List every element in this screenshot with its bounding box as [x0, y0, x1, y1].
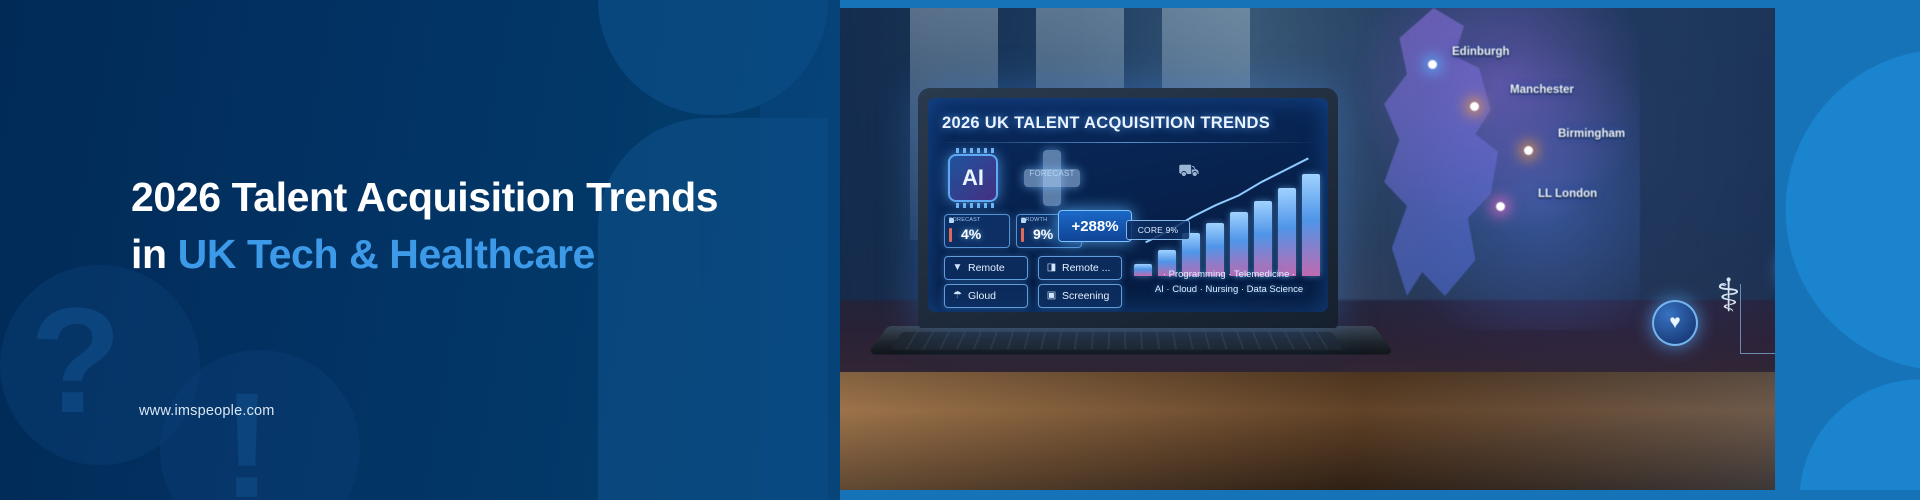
- city-label-birmingham: Birmingham: [1558, 128, 1625, 140]
- trend-line: [1134, 148, 1320, 260]
- medical-cross-icon: FORECAST: [1024, 150, 1080, 206]
- right-edge-curve: [1775, 0, 1920, 500]
- laptop-keyboard: [890, 332, 1343, 350]
- map-node-edinburgh: [1428, 60, 1437, 69]
- stat-bar-indicator: [949, 228, 952, 242]
- screen-title: 2026 UK TALENT ACQUISITION TRENDS: [942, 114, 1314, 133]
- question-mark-glyph: ?: [30, 285, 122, 435]
- filter-pill-label: Remote: [968, 262, 1005, 274]
- skill-tags-line-1: · Programming · Telemedicine ·: [1136, 268, 1322, 283]
- heart-icon: ♥: [1652, 300, 1698, 346]
- filter-pill-label: Remote ...: [1062, 262, 1110, 274]
- headline-prefix: in: [131, 231, 178, 277]
- stat-card-value: 9%: [1033, 226, 1053, 242]
- filter-pill-remote-alt[interactable]: ◨ Remote ...: [1038, 256, 1122, 280]
- stat-card-forecast: FORECAST 4%: [944, 214, 1010, 248]
- chart-tooltip: CORE 9%: [1126, 220, 1190, 240]
- stat-card-label: GROWTH: [1021, 217, 1047, 223]
- chevron-down-icon: ▼: [952, 263, 963, 274]
- filter-pill-remote[interactable]: ▼ Remote: [944, 256, 1028, 280]
- decorative-shape-top: [598, 0, 828, 115]
- promo-banner: ? ! 2026 Talent Acquisition Trends in UK…: [0, 0, 1920, 500]
- city-label-london: LL London: [1538, 188, 1597, 200]
- inbox-icon: ▣: [1046, 291, 1057, 302]
- chart-icon: ◨: [1046, 263, 1057, 274]
- decorative-circle-exclaim: [160, 350, 360, 500]
- growth-bar-chart: ⛟ CORE 9%: [1134, 148, 1320, 276]
- stat-card-label: FORECAST: [949, 217, 981, 223]
- skill-tags-line-2: AI · Cloud · Nursing · Data Science: [1136, 283, 1322, 298]
- cloud-icon: ☂: [952, 291, 963, 302]
- filter-pill-label: Gloud: [968, 290, 996, 302]
- filter-pill-screening[interactable]: ▣ Screening: [1038, 284, 1122, 308]
- decorative-circle-question: [0, 265, 200, 465]
- uk-map: Edinburgh Manchester Birmingham LL Londo…: [1310, 0, 1640, 330]
- map-node-birmingham: [1524, 146, 1533, 155]
- laptop: 2026 UK TALENT ACQUISITION TRENDS AI FOR…: [918, 88, 1338, 328]
- headline-accent: UK Tech & Healthcare: [178, 231, 595, 277]
- map-node-london: [1496, 202, 1505, 211]
- hero-photo-panel: 2026 UK TALENT ACQUISITION TRENDS AI FOR…: [840, 0, 1920, 500]
- photo-frame-bottom: [840, 490, 1920, 500]
- map-node-manchester: [1470, 102, 1479, 111]
- exclamation-mark-glyph: !: [222, 370, 272, 500]
- uk-map-landmass: [1350, 8, 1540, 308]
- cross-label: FORECAST: [1024, 169, 1080, 178]
- city-label-manchester: Manchester: [1510, 84, 1574, 96]
- filter-pill-label: Screening: [1062, 290, 1109, 302]
- stat-bar-indicator: [1021, 228, 1024, 242]
- site-url[interactable]: www.imspeople.com: [139, 403, 275, 419]
- growth-badge: +288%: [1058, 210, 1132, 242]
- photo-frame-top: [840, 0, 1920, 8]
- screen-divider: [936, 142, 1320, 143]
- desk-light-sheen: [840, 372, 1920, 500]
- headline-line-2: in UK Tech & Healthcare: [131, 229, 811, 279]
- stat-card-value: 4%: [961, 226, 981, 242]
- laptop-screen: 2026 UK TALENT ACQUISITION TRENDS AI FOR…: [928, 98, 1328, 312]
- filter-pill-cloud[interactable]: ☂ Gloud: [944, 284, 1028, 308]
- skill-tags: · Programming · Telemedicine · AI · Clou…: [1136, 268, 1322, 297]
- ai-chip-icon: AI: [948, 154, 998, 202]
- stethoscope-icon: ⚕: [1716, 272, 1772, 350]
- city-label-edinburgh: Edinburgh: [1452, 46, 1510, 58]
- left-content-panel: ? ! 2026 Talent Acquisition Trends in UK…: [0, 0, 840, 500]
- page-title: 2026 Talent Acquisition Trends in UK Tec…: [131, 172, 811, 279]
- vehicle-icon: ⛟: [1178, 162, 1212, 182]
- headline-line-1: 2026 Talent Acquisition Trends: [131, 174, 718, 220]
